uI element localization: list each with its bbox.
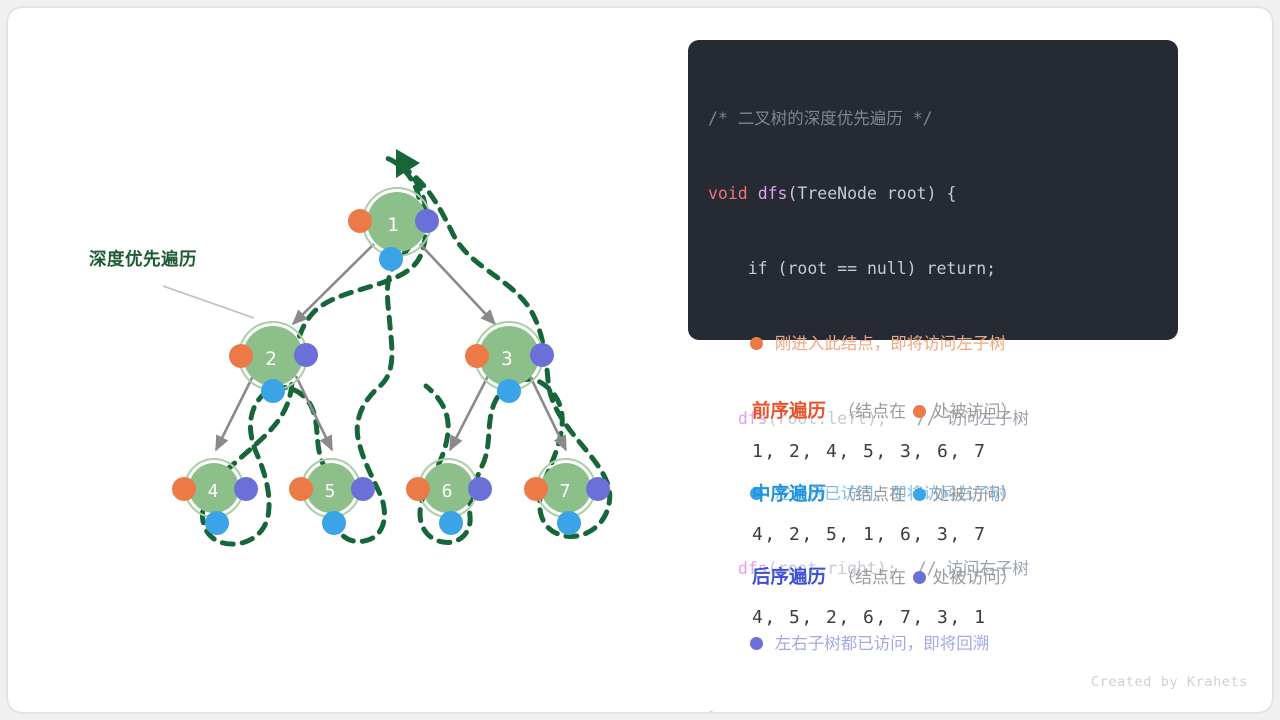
- node-dot-preorder: [348, 209, 372, 233]
- preorder-heading: 前序遍历（结点在 处被访问）: [752, 394, 1172, 429]
- callout-leader-line: [163, 286, 254, 318]
- node-dot-postorder: [415, 209, 439, 233]
- inorder-heading: 中序遍历（结点在 处被访问）: [752, 477, 1172, 512]
- inorder-group: 中序遍历（结点在 处被访问） 4, 2, 5, 1, 6, 3, 7: [752, 477, 1172, 558]
- purple-dot-icon: [913, 571, 926, 584]
- node-dot-inorder: [205, 511, 229, 535]
- node-label-6: 6: [442, 481, 453, 502]
- node-dot-inorder: [261, 379, 285, 403]
- node-dot-inorder: [497, 379, 521, 403]
- tree-node-5[interactable]: 5: [289, 459, 375, 535]
- postorder-group: 后序遍历（结点在 处被访问） 4, 5, 2, 6, 7, 3, 1: [752, 560, 1172, 641]
- node-label-3: 3: [501, 348, 512, 370]
- node-dot-postorder: [468, 477, 492, 501]
- node-label-5: 5: [325, 481, 336, 502]
- code-line-note-preorder: 刚进入此结点，即将访问左子树: [708, 331, 1178, 356]
- node-label-2: 2: [265, 348, 276, 370]
- node-dot-postorder: [586, 477, 610, 501]
- node-dot-preorder: [406, 477, 430, 501]
- node-label-1: 1: [387, 214, 398, 236]
- node-dot-postorder: [351, 477, 375, 501]
- node-dot-postorder: [294, 343, 318, 367]
- tree-node-6[interactable]: 6: [406, 459, 492, 535]
- node-dot-inorder: [322, 511, 346, 535]
- figure-canvas: 1 2 3: [8, 8, 1272, 712]
- node-dot-preorder: [172, 477, 196, 501]
- orange-dot-icon: [750, 337, 763, 350]
- node-dot-preorder: [289, 477, 313, 501]
- postorder-sequence: 4, 5, 2, 6, 7, 3, 1: [752, 595, 1172, 641]
- code-line-signature: void dfs(TreeNode root) {: [708, 181, 1178, 206]
- traversal-results: 前序遍历（结点在 处被访问） 1, 2, 4, 5, 3, 6, 7 中序遍历（…: [752, 394, 1172, 643]
- node-dot-preorder: [524, 477, 548, 501]
- node-label-7: 7: [560, 481, 571, 502]
- tree-node-4[interactable]: 4: [172, 459, 258, 535]
- node-dot-postorder: [234, 477, 258, 501]
- postorder-heading: 后序遍历（结点在 处被访问）: [752, 560, 1172, 595]
- preorder-sequence: 1, 2, 4, 5, 3, 6, 7: [752, 429, 1172, 475]
- preorder-group: 前序遍历（结点在 处被访问） 1, 2, 4, 5, 3, 6, 7: [752, 394, 1172, 475]
- node-dot-postorder: [530, 343, 554, 367]
- code-line-comment-title: /* 二叉树的深度优先遍历 */: [708, 106, 1178, 131]
- binary-tree-diagram: 1 2 3: [8, 8, 668, 712]
- orange-dot-icon: [913, 405, 926, 418]
- node-dot-preorder: [229, 344, 253, 368]
- code-snippet: /* 二叉树的深度优先遍历 */ void dfs(TreeNode root)…: [688, 40, 1178, 340]
- code-line-close-brace: }: [708, 706, 1178, 712]
- tree-svg: 1 2 3: [8, 8, 668, 712]
- node-dot-inorder: [379, 247, 403, 271]
- node-dot-inorder: [557, 511, 581, 535]
- tree-node-7[interactable]: 7: [524, 459, 610, 535]
- code-line-nullcheck: if (root == null) return;: [708, 256, 1178, 281]
- node-label-4: 4: [208, 481, 219, 502]
- inorder-sequence: 4, 2, 5, 1, 6, 3, 7: [752, 512, 1172, 558]
- node-dot-inorder: [439, 511, 463, 535]
- blue-dot-icon: [913, 488, 926, 501]
- dfs-callout-label: 深度优先遍历: [89, 246, 197, 271]
- node-dot-preorder: [465, 344, 489, 368]
- credit-text: Created by Krahets: [8, 674, 1248, 690]
